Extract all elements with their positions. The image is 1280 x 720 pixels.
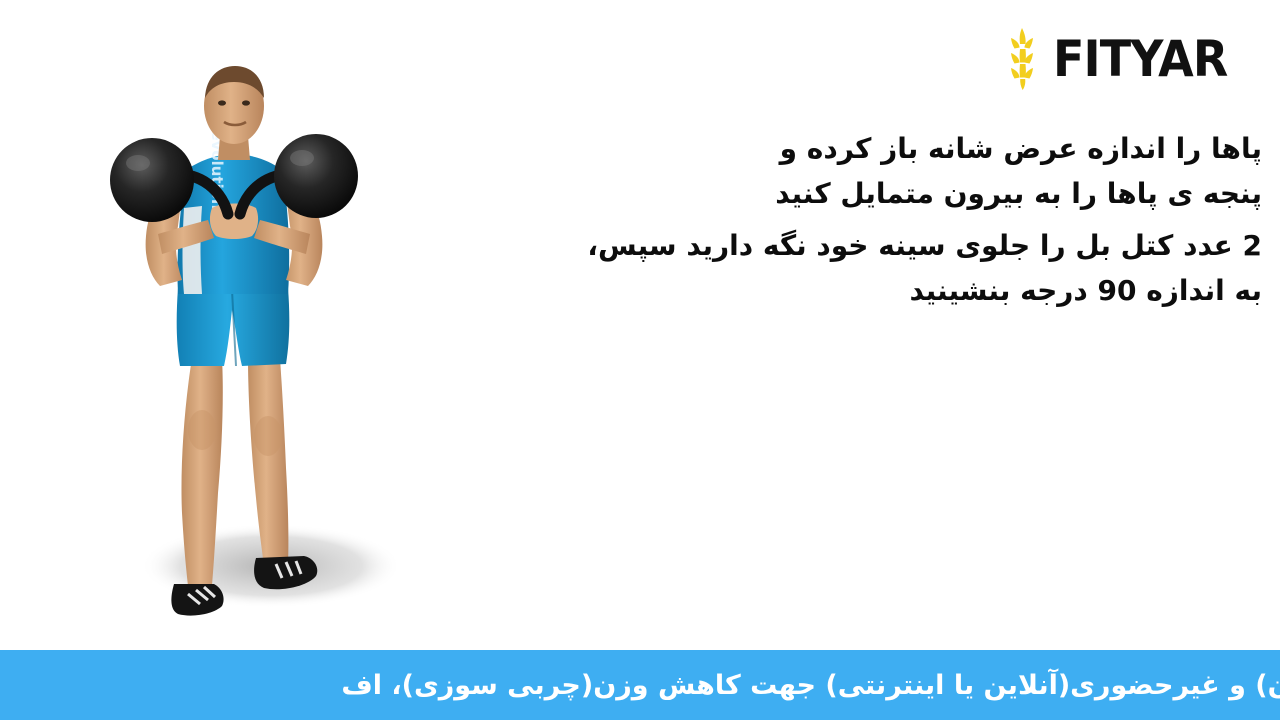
instruction-list: پاها را اندازه عرض شانه باز کرده و پنجه … — [520, 126, 1280, 319]
ticker-text: برنامه تمرینی بصورت حضوری(تهران) و غیرحض… — [331, 670, 1280, 701]
right-kettlebell — [274, 134, 358, 218]
brand-logo: FITYAR — [1005, 28, 1242, 90]
bottom-ticker-banner: برنامه تمرینی بصورت حضوری(تهران) و غیرحض… — [0, 650, 1280, 720]
instruction-text: 2 عدد کتل بل را جلوی سینه خود نگه دارید … — [520, 223, 1280, 314]
hands — [210, 204, 258, 240]
instruction-item: 2 عدد کتل بل را جلوی سینه خود نگه دارید … — [520, 223, 1280, 314]
wheat-stalk-icon — [1005, 28, 1039, 90]
instruction-text: پاها را اندازه عرض شانه باز کرده و پنجه … — [520, 126, 1280, 217]
instruction-item: پاها را اندازه عرض شانه باز کرده و پنجه … — [520, 126, 1280, 217]
left-shoe — [171, 584, 223, 616]
left-kettlebell — [110, 138, 194, 222]
athlete-illustration: evolutionfit — [96, 58, 426, 638]
brand-wordmark: FITYAR — [1053, 34, 1227, 84]
video-frame: FITYAR پاها را اندازه عرض شانه باز کرده … — [0, 0, 1280, 720]
